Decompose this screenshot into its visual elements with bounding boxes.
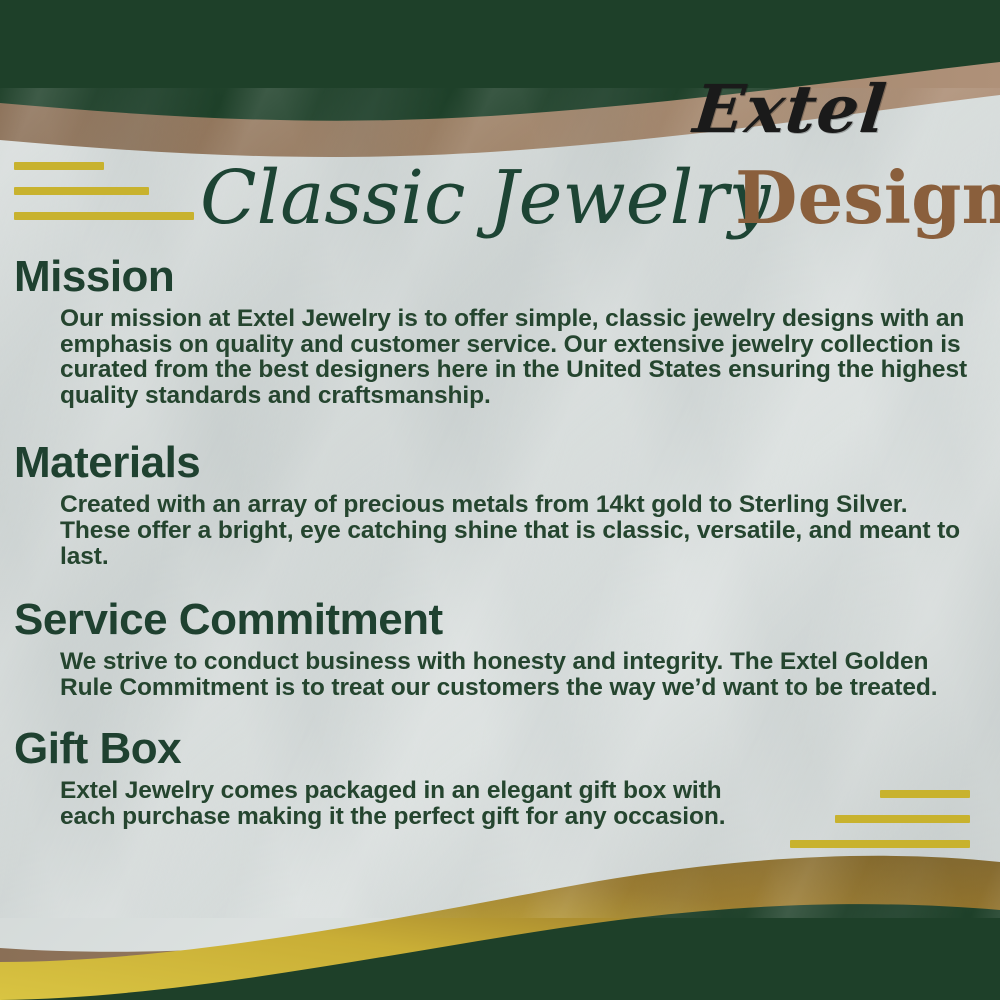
section-materials: Materials Created with an array of preci…	[0, 438, 1000, 569]
section-gift-box: Gift Box Extel Jewelry comes packaged in…	[0, 724, 1000, 829]
section-list: Mission Our mission at Extel Jewelry is …	[0, 252, 1000, 830]
section-body: Our mission at Extel Jewelry is to offer…	[60, 306, 972, 408]
decorative-rules-left	[14, 162, 194, 237]
section-body: Created with an array of precious metals…	[60, 492, 972, 569]
brand-logo: Extel	[596, 72, 984, 152]
section-heading: Mission	[14, 252, 1000, 302]
section-heading: Materials	[14, 438, 1000, 488]
title-main-text: Classic Jewelry	[200, 152, 730, 244]
section-heading: Service Commitment	[14, 595, 1000, 645]
section-body: Extel Jewelry comes packaged in an elega…	[60, 778, 760, 829]
title-accent-text: Design	[735, 152, 1000, 244]
section-service-commitment: Service Commitment We strive to conduct …	[0, 595, 1000, 700]
section-heading: Gift Box	[14, 724, 1000, 774]
section-mission: Mission Our mission at Extel Jewelry is …	[0, 252, 1000, 408]
poster-canvas: Extel Classic Jewelry Design Mission Our…	[0, 0, 1000, 1000]
section-body: We strive to conduct business with hones…	[60, 649, 972, 700]
poster-content: Extel Classic Jewelry Design Mission Our…	[0, 0, 1000, 1000]
rule-line	[790, 840, 970, 848]
rule-line	[14, 212, 194, 220]
rule-line	[14, 162, 104, 170]
rule-line	[14, 187, 149, 195]
